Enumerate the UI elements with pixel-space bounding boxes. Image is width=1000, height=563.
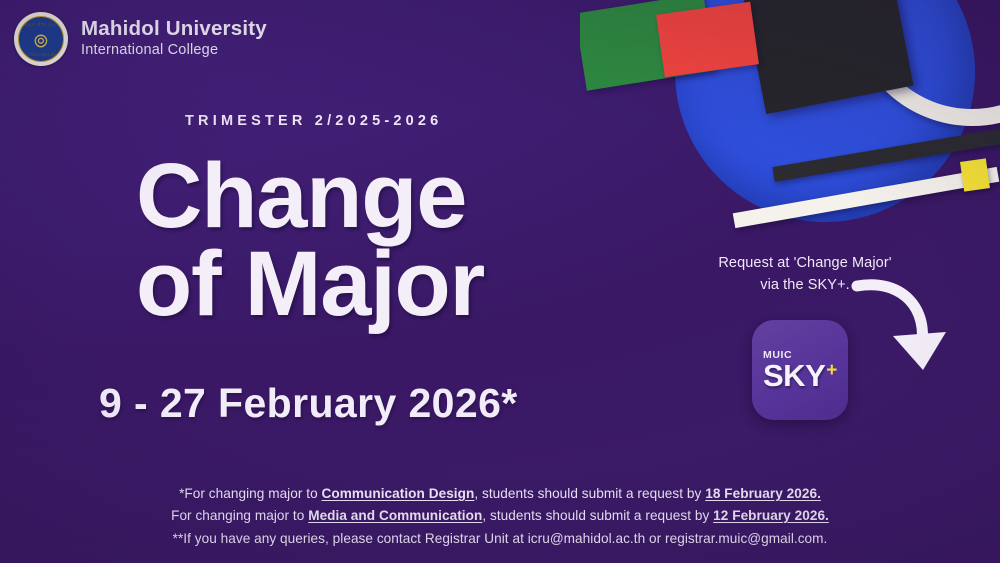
footnote-1-pre: *For changing major to xyxy=(179,486,321,501)
footnote-line-3: **If you have any queries, please contac… xyxy=(0,528,1000,550)
brand-lockup: ปญฺญา ชีวิต ธมฺโม ๏ มหาวิทยาลัยมหิดล Mah… xyxy=(14,12,267,66)
footnotes: *For changing major to Communication Des… xyxy=(0,483,1000,550)
seal-motto-top: ปญฺญา ชีวิต ธมฺโม xyxy=(19,21,63,28)
yellow-square-shape xyxy=(960,158,990,191)
trimester-eyebrow: TRIMESTER 2/2025-2026 xyxy=(185,113,442,129)
curved-arrow-icon xyxy=(845,272,955,387)
brand-title: Mahidol University xyxy=(81,17,267,41)
date-range: 9 - 27 February 2026* xyxy=(99,380,518,427)
red-rectangle-shape xyxy=(656,2,759,78)
brand-text: Mahidol University International College xyxy=(81,17,267,60)
footnote-1-major: Communication Design xyxy=(322,486,475,501)
footnote-2-deadline: 12 February 2026. xyxy=(713,508,829,523)
app-icon-plus-label: + xyxy=(826,361,837,380)
seal-emblem-icon: ๏ xyxy=(33,27,48,52)
footnote-2-pre: For changing major to xyxy=(171,508,308,523)
change-of-major-poster: ปญฺญา ชีวิต ธมฺโม ๏ มหาวิทยาลัยมหิดล Mah… xyxy=(0,0,1000,563)
seal-inner: ปญฺญา ชีวิต ธมฺโม ๏ มหาวิทยาลัยมหิดล xyxy=(18,16,64,62)
callout-line-1: Request at 'Change Major' xyxy=(718,255,891,271)
footnote-1-mid: , students should submit a request by xyxy=(474,486,705,501)
app-icon-sky-label: SKY xyxy=(763,362,825,390)
decorative-collage xyxy=(580,0,1000,250)
footnote-line-2: For changing major to Media and Communic… xyxy=(0,505,1000,527)
muic-sky-app-icon[interactable]: MUIC SKY + xyxy=(752,320,848,420)
page-title: Change of Major xyxy=(136,152,484,329)
brand-subtitle: International College xyxy=(81,41,267,61)
footnote-1-deadline: 18 February 2026. xyxy=(705,486,821,501)
seal-motto-bottom: มหาวิทยาลัยมหิดล xyxy=(19,51,63,58)
mahidol-university-seal-icon: ปญฺญา ชีวิต ธมฺโม ๏ มหาวิทยาลัยมหิดล xyxy=(14,12,68,66)
footnote-2-major: Media and Communication xyxy=(308,508,482,523)
app-icon-sky-row: SKY + xyxy=(763,362,848,390)
footnote-2-mid: , students should submit a request by xyxy=(482,508,713,523)
footnote-line-1: *For changing major to Communication Des… xyxy=(0,483,1000,505)
